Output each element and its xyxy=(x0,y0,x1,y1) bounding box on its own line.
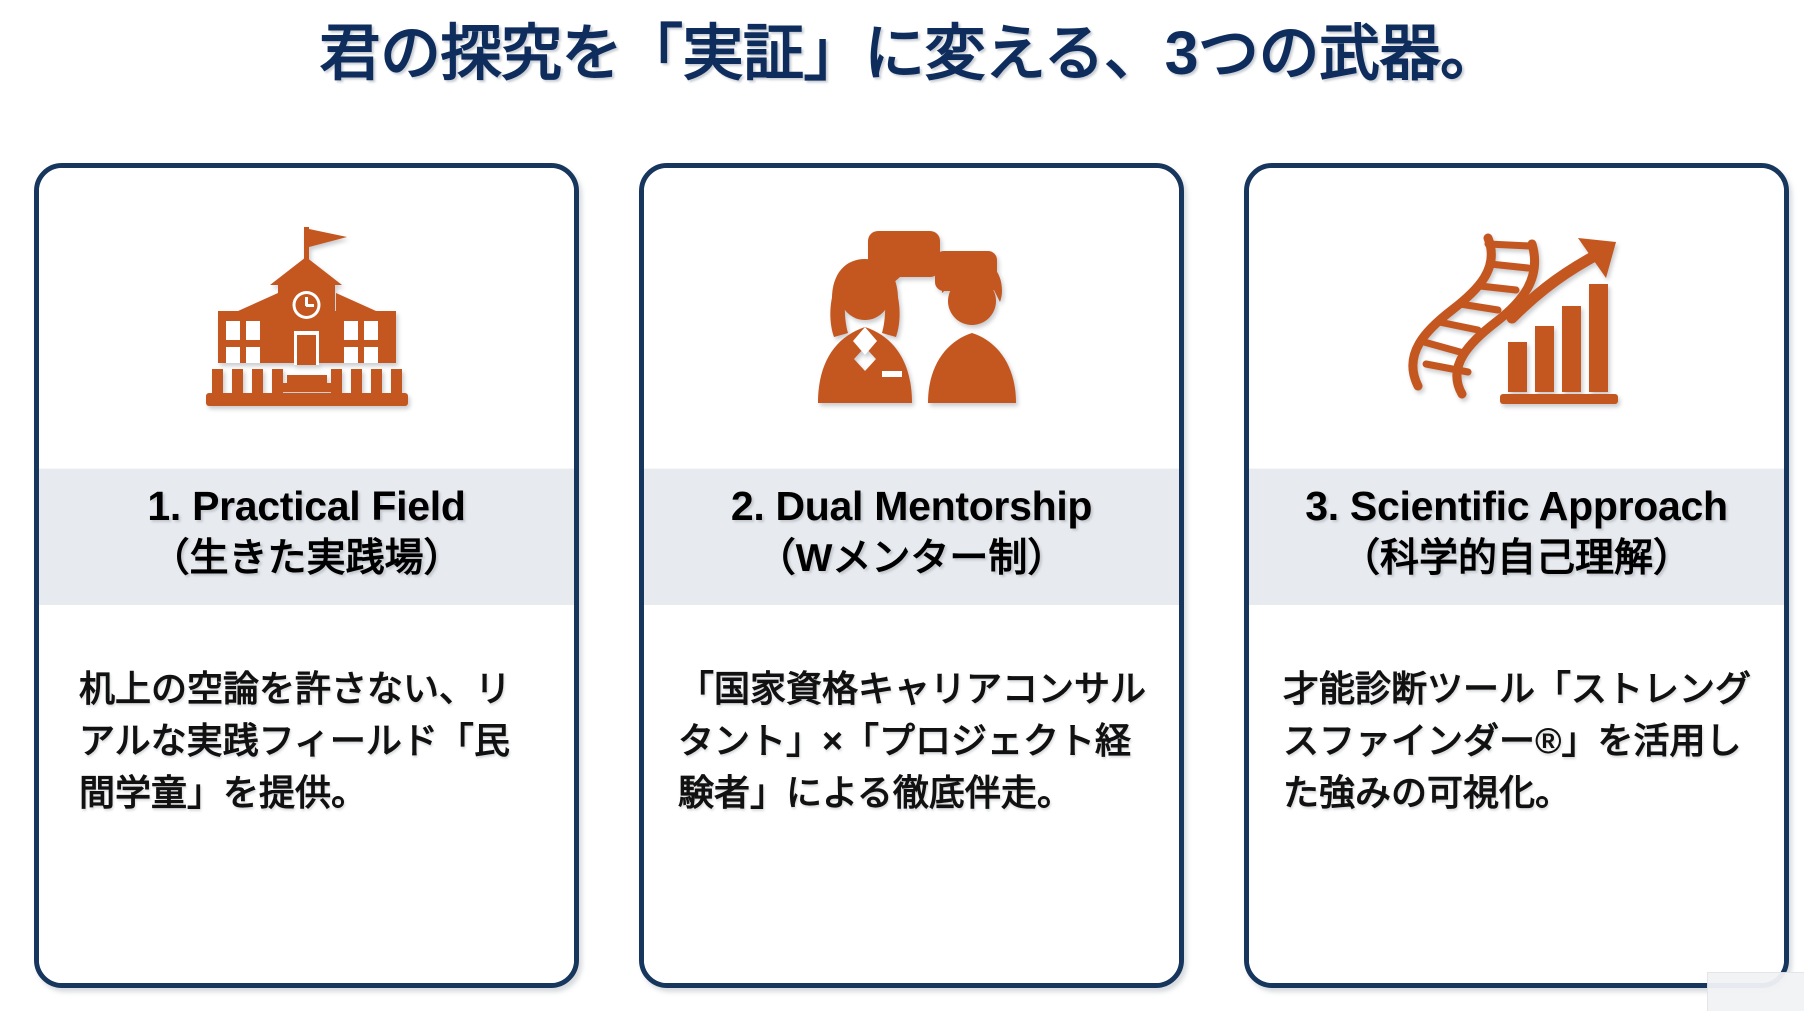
card-title: 3. Scientific Approach xyxy=(1259,482,1774,530)
dna-growth-chart-icon xyxy=(1392,218,1642,418)
feature-card-scientific-approach[interactable]: 3. Scientific Approach （科学的自己理解） 才能診断ツール… xyxy=(1244,163,1789,988)
card-subtitle: （科学的自己理解） xyxy=(1259,534,1774,585)
card-description: 机上の空論を許さない、リアルな実践フィールド「民間学童」を提供。 xyxy=(79,663,534,820)
card-description: 「国家資格キャリアコンサルタント」×「プロジェクト経験者」による徹底伴走。 xyxy=(678,663,1149,820)
feature-card-practical-field[interactable]: 1. Practical Field （生きた実践場） 机上の空論を許さない、リ… xyxy=(34,163,579,988)
school-building-icon xyxy=(192,223,422,413)
card-description: 才能診断ツール「ストレングスファインダー®」を活用した強みの可視化。 xyxy=(1283,663,1754,820)
card-subtitle: （Wメンター制） xyxy=(654,534,1169,585)
card-body: 才能診断ツール「ストレングスファインダー®」を活用した強みの可視化。 xyxy=(1249,605,1784,983)
card-title: 1. Practical Field xyxy=(49,482,564,530)
card-body: 「国家資格キャリアコンサルタント」×「プロジェクト経験者」による徹底伴走。 xyxy=(644,605,1179,983)
card-title: 2. Dual Mentorship xyxy=(654,482,1169,530)
two-people-conversation-icon xyxy=(792,221,1032,416)
card-heading-band: 2. Dual Mentorship （Wメンター制） xyxy=(644,468,1179,605)
feature-card-dual-mentorship[interactable]: 2. Dual Mentorship （Wメンター制） 「国家資格キャリアコンサ… xyxy=(639,163,1184,988)
card-icon-area xyxy=(644,168,1179,468)
slide-root: 君の探究を「実証」に変える、3つの武器。 xyxy=(0,0,1820,1017)
page-title: 君の探究を「実証」に変える、3つの武器。 xyxy=(0,18,1820,90)
card-body: 机上の空論を許さない、リアルな実践フィールド「民間学童」を提供。 xyxy=(39,605,574,983)
corner-watermark xyxy=(1707,972,1804,1011)
feature-card-row: 1. Practical Field （生きた実践場） 机上の空論を許さない、リ… xyxy=(34,163,1789,988)
card-icon-area xyxy=(39,168,574,468)
card-subtitle: （生きた実践場） xyxy=(49,534,564,585)
card-heading-band: 3. Scientific Approach （科学的自己理解） xyxy=(1249,468,1784,605)
card-heading-band: 1. Practical Field （生きた実践場） xyxy=(39,468,574,605)
card-icon-area xyxy=(1249,168,1784,468)
